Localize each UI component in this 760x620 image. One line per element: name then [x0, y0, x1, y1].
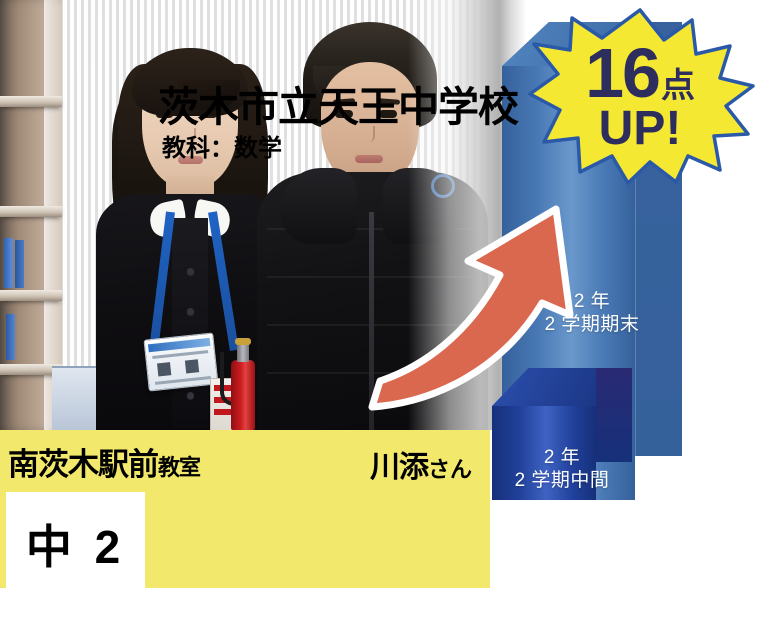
classroom-name-main: 南茨木駅前 — [8, 439, 158, 484]
banner-top-row: 南茨木駅前 教室 川添 さん — [0, 430, 490, 492]
button — [187, 308, 194, 315]
badge-up-label: UP! — [599, 107, 682, 151]
extinguisher-body — [231, 360, 255, 430]
grade-label: 中 2 — [26, 511, 125, 577]
id-card-photo — [185, 359, 199, 373]
badge-score-unit: 点 — [661, 71, 695, 102]
bookshelf-board — [0, 206, 62, 217]
badge-text-group: 16 点 UP! — [524, 6, 756, 186]
bookshelf-book — [4, 238, 13, 288]
bookshelf-board — [0, 290, 62, 301]
id-card-badge — [143, 332, 218, 391]
id-card-line — [155, 376, 211, 385]
advertisement-canvas: 2 年 2 学期期末 2 年 2 学期中間 16 点 UP! — [0, 0, 760, 620]
info-banner: 南茨木駅前 教室 川添 さん 中 2 — [0, 430, 490, 588]
button — [187, 392, 194, 399]
bookshelf-board — [0, 96, 62, 107]
badge-score-line: 16 点 — [585, 41, 695, 105]
score-up-badge: 16 点 UP! — [524, 6, 756, 186]
student-name: 川添 さん — [370, 442, 472, 486]
growth-arrow — [360, 175, 635, 420]
subject-label: 教科：数学 — [162, 128, 282, 163]
id-card-photo — [157, 362, 171, 376]
jacket-hood-left — [281, 168, 357, 244]
extinguisher-neck — [237, 344, 249, 362]
bar-front-face — [492, 406, 596, 500]
badge-score-number: 16 — [585, 41, 659, 105]
classroom-name-suffix: 教室 — [158, 450, 200, 482]
student-name-honorific: さん — [428, 452, 472, 484]
grade-box: 中 2 — [6, 492, 145, 595]
arrow-shape — [372, 209, 570, 407]
bookshelf-book — [15, 240, 24, 288]
mouth — [355, 155, 383, 163]
button — [187, 268, 194, 275]
school-full-name: 茨木市立天王中学校 — [158, 73, 518, 133]
student-name-main: 川添 — [370, 442, 428, 486]
extinguisher-handle — [235, 338, 251, 345]
fire-extinguisher — [228, 338, 258, 430]
classroom-name: 南茨木駅前 教室 — [8, 439, 200, 484]
bookshelf-book — [6, 314, 15, 360]
id-card-line — [152, 350, 208, 359]
